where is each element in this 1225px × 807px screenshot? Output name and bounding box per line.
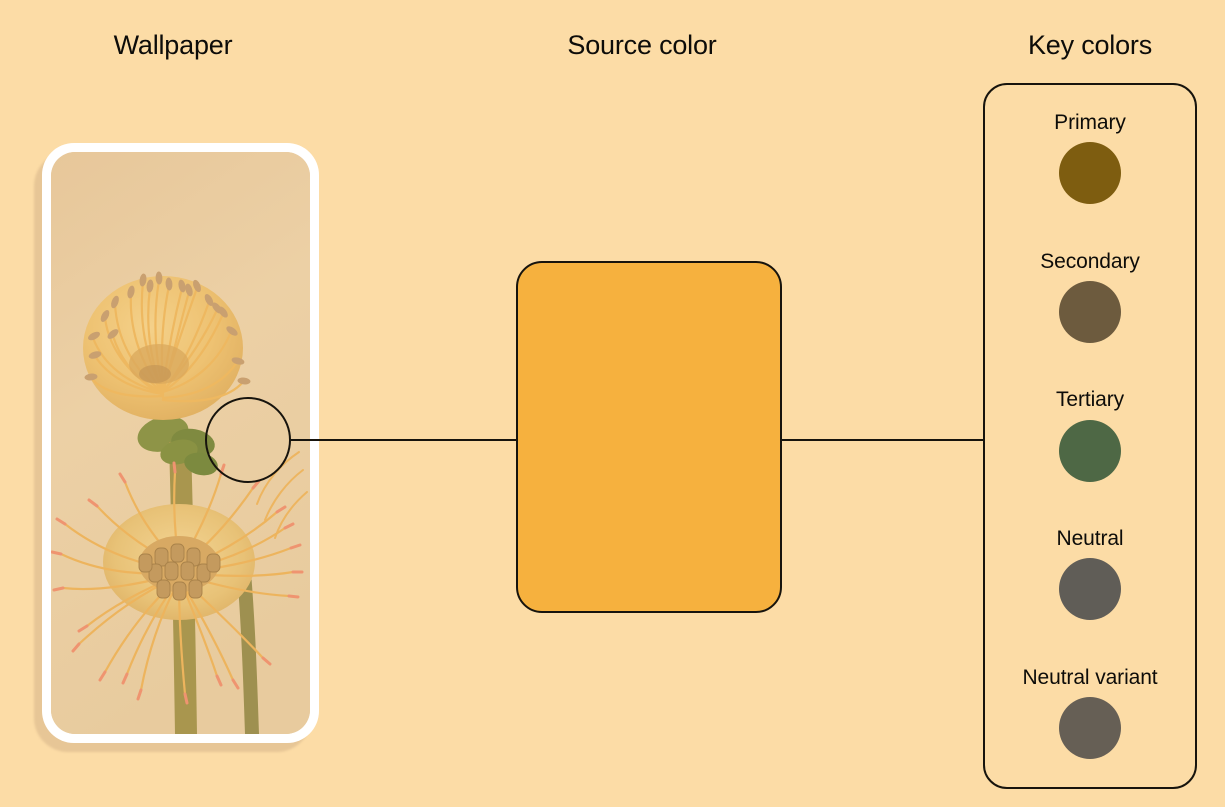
key-color-primary[interactable]: Primary: [1054, 111, 1126, 204]
wallpaper-sample-circle[interactable]: [205, 397, 291, 483]
key-color-label: Tertiary: [1056, 388, 1124, 411]
key-color-swatch[interactable]: [1059, 558, 1121, 620]
wallpaper-column-heading: Wallpaper: [114, 30, 233, 61]
key-colors-panel: Primary Secondary Tertiary Neutral Neutr…: [983, 83, 1197, 789]
key-color-swatch[interactable]: [1059, 281, 1121, 343]
key-colors-column-heading: Key colors: [1028, 30, 1152, 61]
key-color-tertiary[interactable]: Tertiary: [1056, 388, 1124, 481]
diagram-canvas: Wallpaper Source color Key colors: [0, 0, 1225, 807]
connector-wallpaper-to-source: [290, 439, 518, 441]
source-color-column-heading: Source color: [567, 30, 716, 61]
key-color-neutral-variant[interactable]: Neutral variant: [1022, 666, 1157, 759]
key-color-swatch[interactable]: [1059, 142, 1121, 204]
source-color-swatch[interactable]: [516, 261, 782, 613]
key-color-swatch[interactable]: [1059, 697, 1121, 759]
key-color-neutral[interactable]: Neutral: [1057, 527, 1124, 620]
key-color-label: Primary: [1054, 111, 1126, 134]
key-color-label: Secondary: [1040, 250, 1140, 273]
key-color-label: Neutral: [1057, 527, 1124, 550]
key-color-swatch[interactable]: [1059, 420, 1121, 482]
key-color-label: Neutral variant: [1022, 666, 1157, 689]
key-color-secondary[interactable]: Secondary: [1040, 250, 1140, 343]
connector-source-to-key-colors: [781, 439, 984, 441]
